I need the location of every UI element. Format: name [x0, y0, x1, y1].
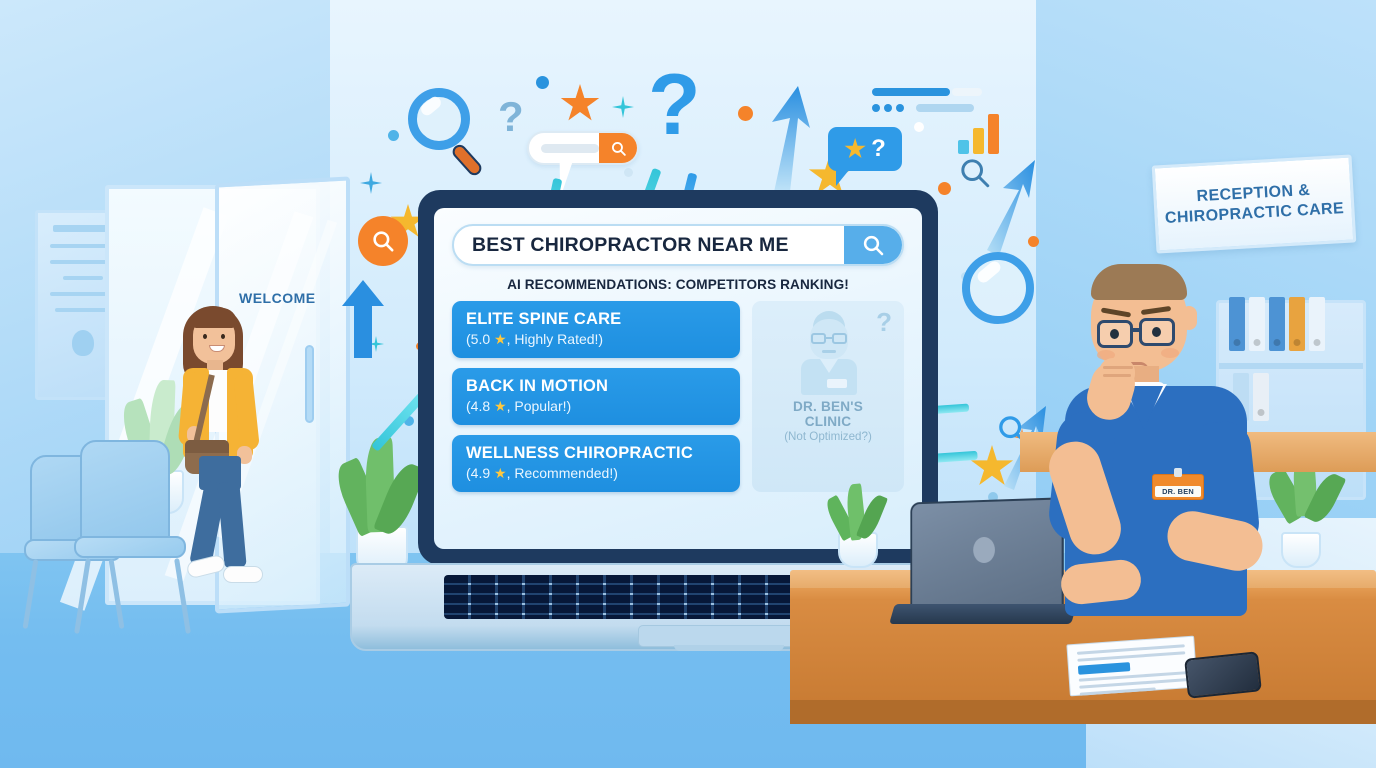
star-icon: ★ [494, 465, 507, 481]
dot-icon [624, 168, 633, 177]
star-question-bubble-icon: ? [828, 127, 902, 171]
result-rating: (4.9 ★, Recommended!) [466, 465, 726, 482]
question-mark-small-icon: ? [498, 96, 524, 138]
result-card[interactable]: ELITE SPINE CARE (5.0 ★, Highly Rated!) [452, 301, 740, 358]
reception-sign: RECEPTION & CHIROPRACTIC CARE [1152, 154, 1357, 253]
visitor-woman [165, 300, 285, 590]
result-name: WELLNESS CHIROPRACTIC [466, 444, 726, 463]
question-mark-large-icon: ? [648, 62, 701, 148]
dot-icon [388, 130, 399, 141]
ai-recommendations-heading: AI RECOMMENDATIONS: COMPETITORS RANKING! [452, 277, 904, 292]
question-mark-icon: ? [876, 307, 892, 338]
dot-icon [536, 76, 549, 89]
dot-icon [738, 106, 753, 121]
result-name: ELITE SPINE CARE [466, 310, 726, 329]
search-icon [599, 133, 637, 163]
magnifier-large-icon [962, 252, 1034, 324]
avatar [789, 311, 867, 395]
search-bar[interactable]: BEST CHIROPRACTOR NEAR ME [452, 224, 904, 266]
rating-value: 4.8 [471, 398, 490, 414]
name-badge: DR. BEN [1152, 474, 1204, 500]
dot-icon [938, 182, 951, 195]
name-badge-label: DR. BEN [1155, 486, 1201, 497]
result-rating: (5.0 ★, Highly Rated!) [466, 331, 726, 348]
lid-notch [674, 645, 784, 651]
arrow-up-trend-icon [762, 84, 814, 194]
result-name: BACK IN MOTION [466, 377, 726, 396]
result-card[interactable]: WELLNESS CHIROPRACTIC (4.9 ★, Recommende… [452, 435, 740, 492]
search-input[interactable]: BEST CHIROPRACTOR NEAR ME [454, 234, 844, 257]
ghost-clinic-name: DR. BEN'S CLINIC [758, 399, 898, 429]
orange-circle-search-icon[interactable] [358, 216, 408, 266]
competitor-cards: ELITE SPINE CARE (5.0 ★, Highly Rated!) … [452, 301, 740, 492]
desk-base-shadow [790, 700, 1376, 724]
search-icon[interactable] [844, 226, 902, 264]
rating-tag: Recommended! [514, 465, 613, 481]
smartphone[interactable] [1184, 651, 1262, 699]
clinic-name-line2: CLINIC [805, 414, 852, 429]
doctor-ben [1035, 262, 1285, 642]
result-rating: (4.8 ★, Popular!) [466, 398, 726, 415]
rating-tag: Popular! [514, 398, 566, 414]
star-icon: ★ [494, 398, 507, 414]
clinic-name-line1: DR. BEN'S [793, 399, 863, 414]
mini-search-bar-icon[interactable] [527, 131, 639, 165]
arrow-up-icon [342, 280, 384, 358]
dr-ben-clinic-panel[interactable]: ? DR. BEN'S [752, 301, 904, 492]
search-results: ELITE SPINE CARE (5.0 ★, Highly Rated!) … [452, 301, 904, 492]
illustration-scene: WELCOME [0, 0, 1376, 768]
desk-documents[interactable] [1066, 636, 1197, 697]
door-handle[interactable] [305, 345, 314, 423]
result-card[interactable]: BACK IN MOTION (4.8 ★, Popular!) [452, 368, 740, 425]
sign-line-2: CHIROPRACTIC CARE [1165, 199, 1345, 228]
magnifier-outline-icon [958, 156, 992, 195]
mini-search-line [541, 144, 599, 153]
bar-chart-icon [958, 112, 1004, 154]
magnifier-large-icon [408, 88, 470, 150]
rating-tag: Highly Rated! [514, 331, 598, 347]
laptop-logo-icon [973, 536, 995, 562]
star-icon: ★ [494, 331, 507, 347]
dot-icon [914, 122, 924, 132]
ghost-clinic-status: (Not Optimized?) [758, 430, 898, 443]
rating-value: 4.9 [471, 465, 490, 481]
rating-value: 5.0 [471, 331, 490, 347]
